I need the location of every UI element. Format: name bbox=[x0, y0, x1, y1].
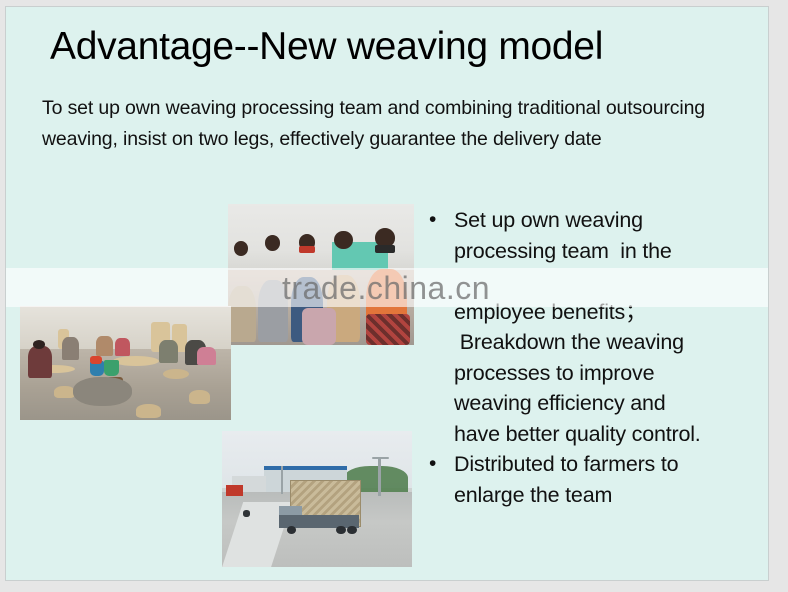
bullet-line: have better quality control. bbox=[454, 419, 769, 450]
bullet-line: weaving efficiency and bbox=[454, 388, 769, 419]
photo-basket bbox=[163, 369, 188, 379]
photo-street-lamp bbox=[378, 458, 381, 496]
photo-worker bbox=[228, 286, 256, 342]
photo-worker bbox=[115, 338, 130, 356]
photo-fabric bbox=[302, 308, 335, 345]
photo-worker bbox=[62, 337, 79, 360]
bullet-dot-icon: • bbox=[429, 449, 436, 480]
photo-basket bbox=[54, 386, 75, 399]
photo-worker-head bbox=[265, 235, 280, 251]
bullet-list: • Set up own weaving processing team in … bbox=[422, 205, 769, 510]
bullet-line: processes to improve bbox=[454, 358, 769, 389]
photo-worker bbox=[28, 346, 51, 378]
bullet-line: Breakdown the weaving bbox=[454, 327, 769, 358]
intro-paragraph: To set up own weaving processing team an… bbox=[42, 93, 722, 155]
bullet-line: Distributed to farmers to bbox=[454, 449, 769, 480]
photo-street-lamp bbox=[281, 466, 283, 493]
photo-worker-scarf bbox=[299, 246, 316, 253]
bullet-line: employee benefits； bbox=[454, 297, 769, 328]
photo-material-pile bbox=[73, 377, 132, 407]
bullet-line-obscured bbox=[454, 266, 769, 297]
bullet-line: Set up own weaving bbox=[454, 205, 769, 236]
photo-bucket bbox=[104, 360, 119, 376]
photo-basket bbox=[136, 404, 161, 418]
photo-worker-head bbox=[334, 231, 353, 249]
photo-street-lamp-arm bbox=[372, 457, 389, 459]
photo-basket bbox=[189, 390, 210, 404]
photo-motorcycle bbox=[243, 510, 251, 517]
photo-worker bbox=[197, 347, 216, 365]
bullet-line: processing team in the bbox=[454, 236, 769, 267]
photo-truck-wheel bbox=[336, 526, 346, 534]
weaving-team-photo bbox=[228, 204, 414, 345]
photo-worker bbox=[258, 280, 288, 342]
slide-frame: Advantage--New weaving model To set up o… bbox=[0, 0, 788, 592]
slide-canvas: Advantage--New weaving model To set up o… bbox=[5, 6, 769, 581]
photo-worker bbox=[96, 336, 113, 357]
list-item: • Set up own weaving processing team in … bbox=[422, 205, 769, 449]
photo-red-roof bbox=[226, 485, 243, 496]
truck-photo bbox=[222, 431, 412, 567]
photo-worker bbox=[159, 340, 178, 363]
photo-bucket bbox=[90, 356, 103, 364]
workshop-photo bbox=[20, 306, 231, 420]
photo-worker-scarf bbox=[375, 245, 395, 253]
page-title: Advantage--New weaving model bbox=[50, 23, 750, 71]
photo-fabric bbox=[366, 314, 411, 345]
list-item: • Distributed to farmers to enlarge the … bbox=[422, 449, 769, 510]
bullet-dot-icon: • bbox=[429, 205, 436, 236]
bullet-line: enlarge the team bbox=[454, 480, 769, 511]
